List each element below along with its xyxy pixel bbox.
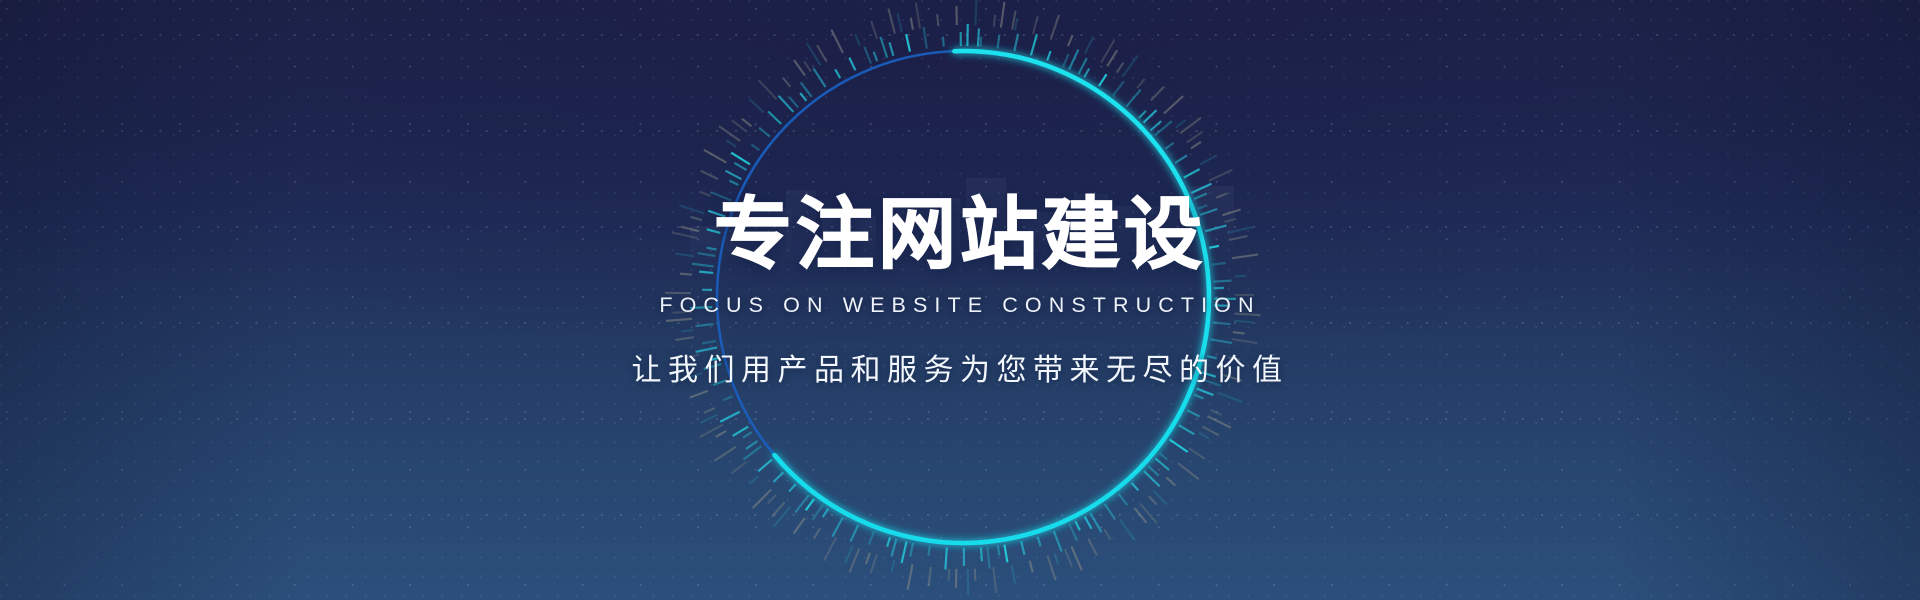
page-tagline: 让我们用产品和服务为您带来无尽的价值 <box>632 345 1289 389</box>
page-title: 专注网站建设 <box>714 196 1206 276</box>
hero-banner: 专注网站建设 FOCUS ON WEBSITE CONSTRUCTION 让我们… <box>0 0 1920 600</box>
page-subtitle: FOCUS ON WEBSITE CONSTRUCTION <box>659 293 1260 318</box>
hero-copy: 专注网站建设 FOCUS ON WEBSITE CONSTRUCTION 让我们… <box>0 0 1920 600</box>
